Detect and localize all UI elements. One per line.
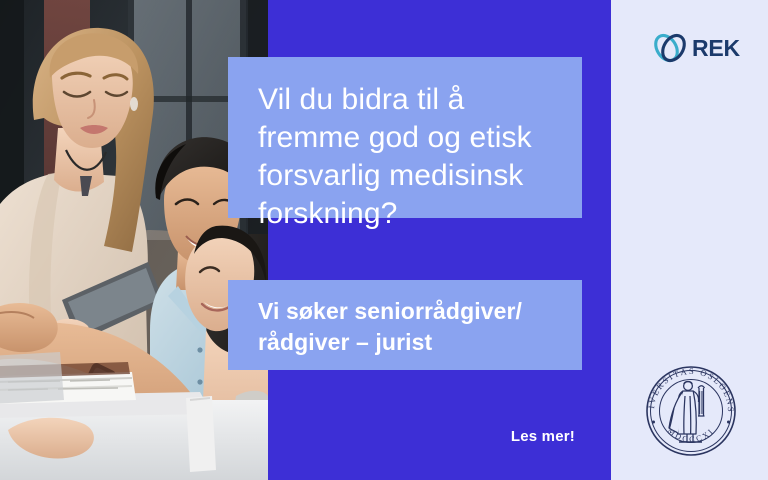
position-title: Vi søker seniorrådgiver/ rådgiver – juri… bbox=[258, 296, 552, 358]
rek-wordmark: REK bbox=[692, 37, 740, 60]
rek-logo[interactable]: REK bbox=[650, 26, 740, 70]
recruitment-banner: Vil du bidra til å fremme god og etisk f… bbox=[0, 0, 768, 480]
position-box: Vi søker seniorrådgiver/ rådgiver – juri… bbox=[228, 280, 582, 370]
headline-box: Vil du bidra til å fremme god og etisk f… bbox=[228, 57, 582, 218]
read-more-link[interactable]: Les mer! bbox=[228, 428, 582, 445]
headline-text: Vil du bidra til å fremme god og etisk f… bbox=[258, 81, 552, 233]
rek-rings-icon bbox=[650, 28, 690, 68]
uio-seal: UNIVERSITAS OSLOENSIS MDCCCXI bbox=[638, 358, 744, 464]
